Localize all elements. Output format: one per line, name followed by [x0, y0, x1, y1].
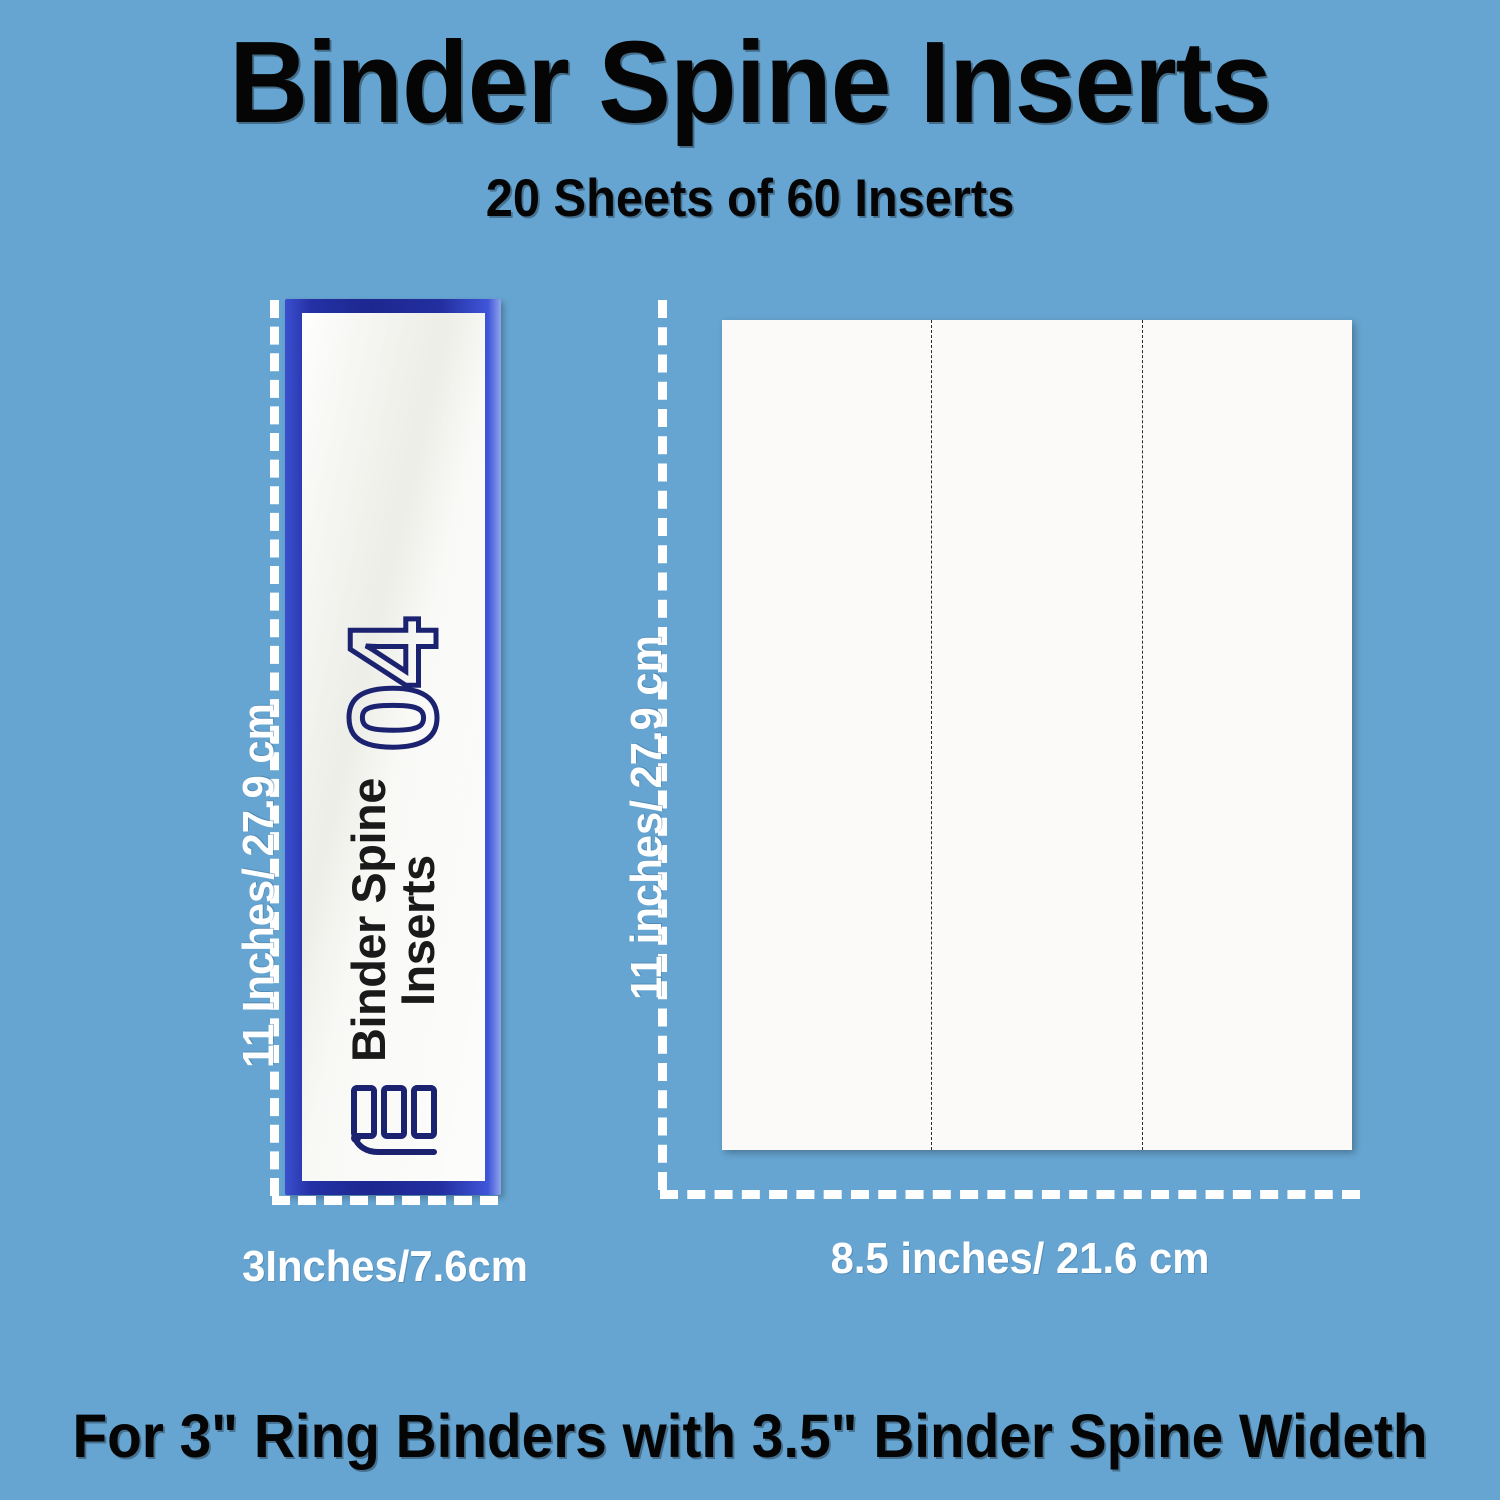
page-footer: For 3" Ring Binders with 3.5" Binder Spi… [53, 1406, 1448, 1467]
ring-binder-icon [348, 1078, 440, 1162]
spine-content-rotated: Binder Spine Inserts 04 [303, 314, 485, 1180]
spine-insert-sample: Binder Spine Inserts 04 [285, 299, 501, 1195]
dim-spine-height: 11 Inches/ 27.9 cm [234, 703, 284, 1068]
spine-label: Binder Spine Inserts [345, 778, 443, 1062]
page-subtitle: 20 Sheets of 60 Inserts [60, 172, 1440, 225]
infographic-canvas: Binder Spine Inserts 20 Sheets of 60 Ins… [0, 0, 1500, 1500]
spine-border: Binder Spine Inserts 04 [285, 299, 501, 1195]
insert-column [931, 320, 1141, 1150]
page-title: Binder Spine Inserts [45, 24, 1455, 140]
spine-label-line1: Binder Spine [342, 778, 395, 1062]
insert-column [1142, 320, 1352, 1150]
dim-sheet-width: 8.5 inches/ 21.6 cm [773, 1234, 1267, 1284]
guide-spine-width [272, 1196, 498, 1205]
spine-label-line2: Inserts [394, 778, 443, 1062]
insert-sheet [722, 320, 1352, 1150]
guide-sheet-width [660, 1190, 1360, 1199]
dim-spine-width: 3Inches/7.6cm [157, 1242, 613, 1292]
insert-column [722, 320, 931, 1150]
spine-number: 04 [332, 622, 456, 752]
dim-sheet-height: 11 inches/ 27.9 cm [622, 635, 672, 1000]
spine-paper: Binder Spine Inserts 04 [302, 313, 485, 1181]
